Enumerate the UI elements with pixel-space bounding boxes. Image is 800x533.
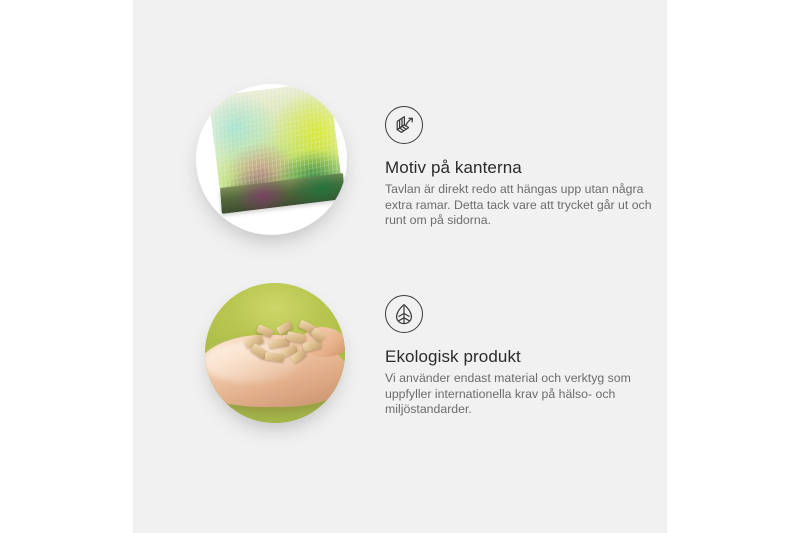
feature-text-column: Ekologisk produkt Vi använder endast mat…	[385, 295, 661, 418]
wood-chips-in-hands-photo	[205, 283, 345, 423]
canvas-wrapped-edge-icon	[385, 106, 423, 144]
feature-block-motiv-pa-kanterna: Motiv på kanterna Tavlan är direkt redo …	[133, 84, 667, 244]
feature-title: Ekologisk produkt	[385, 347, 661, 367]
leaf-icon	[385, 295, 423, 333]
feature-description: Vi använder endast material och verktyg …	[385, 371, 661, 418]
meadow-background	[205, 283, 345, 423]
feature-text-column: Motiv på kanterna Tavlan är direkt redo …	[385, 106, 661, 229]
product-feature-banner: Motiv på kanterna Tavlan är direkt redo …	[0, 0, 800, 533]
content-panel: Motiv på kanterna Tavlan är direkt redo …	[133, 0, 667, 533]
wood-chips-pile	[243, 319, 329, 367]
feature-block-ekologisk-produkt: Ekologisk produkt Vi använder endast mat…	[133, 283, 667, 433]
canvas-print-artwork	[196, 84, 347, 235]
canvas-print-photo	[196, 84, 347, 235]
feature-description: Tavlan är direkt redo att hängas upp uta…	[385, 182, 661, 229]
feature-title: Motiv på kanterna	[385, 158, 661, 178]
